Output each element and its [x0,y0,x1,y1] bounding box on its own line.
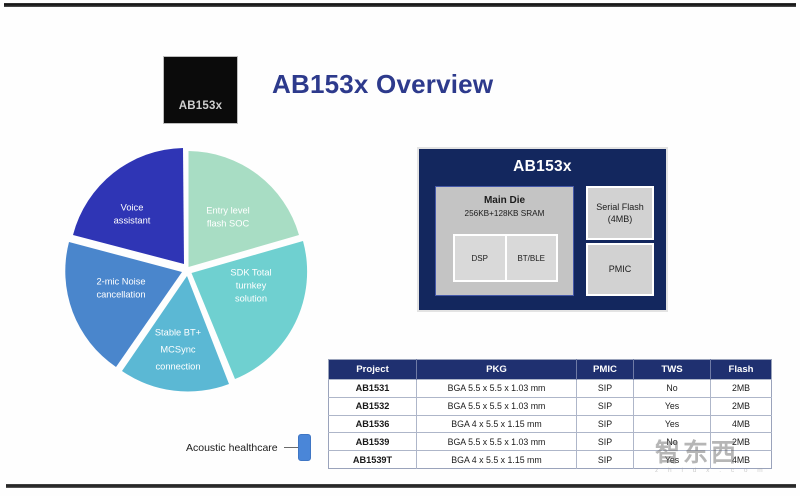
cell-pmic: SIP [577,380,634,398]
cell-flash: 2MB [711,380,772,398]
slide-canvas: AB153x AB153x Overview Entry level flash… [0,0,800,496]
table-row: AB1539 BGA 5.5 x 5.5 x 1.03 mm SIP No 2M… [329,433,772,451]
cell-pkg: BGA 4 x 5.5 x 1.15 mm [417,451,577,469]
cell-pkg: BGA 5.5 x 5.5 x 1.03 mm [417,380,577,398]
pie-label-line: assistant [114,215,151,225]
main-die-subtitle: 256KB+128KB SRAM [436,209,573,218]
column-header-pkg: PKG [417,360,577,380]
acoustic-healthcare-label: Acoustic healthcare [186,442,278,454]
cell-tws: Yes [634,397,711,415]
product-spec-table: Project PKG PMIC TWS Flash AB1531 BGA 5.… [328,359,772,469]
serial-flash-block: Serial Flash (4MB) [586,186,654,240]
pie-label-line: Entry level [206,205,249,215]
pie-label-line: cancellation [96,289,145,299]
table-row: AB1539T BGA 4 x 5.5 x 1.15 mm SIP Yes 4M… [329,451,772,469]
cell-pmic: SIP [577,415,634,433]
pie-label-line: SDK Total [230,267,271,277]
pie-label-line: solution [235,293,267,303]
chip-block-diagram: AB153x Main Die 256KB+128KB SRAM DSP BT/… [417,147,668,312]
main-die-title: Main Die [436,195,573,206]
cell-pkg: BGA 4 x 5.5 x 1.15 mm [417,415,577,433]
table-row: AB1531 BGA 5.5 x 5.5 x 1.03 mm SIP No 2M… [329,380,772,398]
pie-svg: Entry level flash SOC SDK Total turnkey … [52,143,317,398]
chip-logo: AB153x [163,56,238,124]
feature-pie-chart: Entry level flash SOC SDK Total turnkey … [52,143,317,398]
pie-label-line: MCSync [160,344,195,354]
column-header-project: Project [329,360,417,380]
table-header-row: Project PKG PMIC TWS Flash [329,360,772,380]
letterbox-bottom-bar [6,484,796,488]
cell-flash: 2MB [711,397,772,415]
cell-project: AB1539 [329,433,417,451]
acoustic-healthcare-callout: Acoustic healthcare [186,434,311,461]
pie-label-line: Voice [121,202,144,212]
dsp-block: DSP [455,236,505,280]
pie-segment-voice-assistant: Voice assistant [73,148,184,264]
page-title: AB153x Overview [272,69,493,100]
pie-label-line: flash SOC [207,218,250,228]
letterbox-top-bar [4,3,796,7]
serial-flash-line2: (4MB) [608,213,633,225]
cell-pmic: SIP [577,397,634,415]
cell-tws: Yes [634,451,711,469]
column-header-flash: Flash [711,360,772,380]
cell-project: AB1531 [329,380,417,398]
cell-tws: No [634,433,711,451]
cell-flash: 2MB [711,433,772,451]
pie-label-line: Stable BT+ [155,327,201,337]
cell-pmic: SIP [577,433,634,451]
diagram-title: AB153x [419,158,666,176]
callout-bar-icon [298,434,311,461]
peripheral-blocks: Serial Flash (4MB) PMIC [586,186,654,296]
pie-label-line: turnkey [236,280,267,290]
table-row: AB1536 BGA 4 x 5.5 x 1.15 mm SIP Yes 4MB [329,415,772,433]
cell-tws: No [634,380,711,398]
cell-flash: 4MB [711,451,772,469]
cell-flash: 4MB [711,415,772,433]
chip-logo-label: AB153x [179,100,222,112]
cell-project: AB1536 [329,415,417,433]
main-die-subblocks: DSP BT/BLE [453,234,558,282]
secondary-watermark [690,180,795,240]
cell-project: AB1532 [329,397,417,415]
pie-label-line: 2-mic Noise [96,276,145,286]
pie-label-line: connection [156,361,201,371]
column-header-tws: TWS [634,360,711,380]
cell-tws: Yes [634,415,711,433]
serial-flash-line1: Serial Flash [596,201,644,213]
column-header-pmic: PMIC [577,360,634,380]
callout-connector-line [284,447,298,449]
main-die-block: Main Die 256KB+128KB SRAM DSP BT/BLE [435,186,574,296]
bt-ble-block: BT/BLE [505,236,557,280]
cell-project: AB1539T [329,451,417,469]
cell-pkg: BGA 5.5 x 5.5 x 1.03 mm [417,397,577,415]
cell-pkg: BGA 5.5 x 5.5 x 1.03 mm [417,433,577,451]
pmic-block: PMIC [586,243,654,297]
cell-pmic: SIP [577,451,634,469]
pmic-line1: PMIC [609,263,632,275]
table-row: AB1532 BGA 5.5 x 5.5 x 1.03 mm SIP Yes 2… [329,397,772,415]
